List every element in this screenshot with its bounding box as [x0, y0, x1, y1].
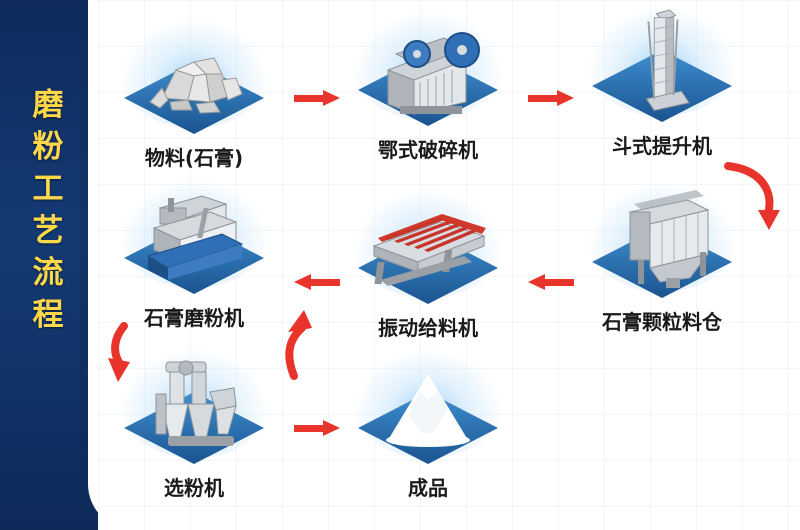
node-tile: [110, 348, 278, 468]
node-finished-product[interactable]: 成品: [344, 348, 512, 468]
arrow-head: [528, 274, 545, 290]
arrow-shaft: [294, 95, 324, 102]
node-powder-separator[interactable]: 选粉机: [110, 348, 278, 468]
node-label: 斗式提升机: [578, 130, 746, 159]
arrow-shaft: [528, 95, 558, 102]
node-tile: [110, 178, 278, 298]
node-gypsum-silo[interactable]: 石膏颗粒料仓: [578, 182, 746, 302]
title-char-4: 艺: [0, 210, 98, 252]
arrow-shaft: [294, 425, 324, 432]
arrow-head: [557, 90, 574, 106]
flow-diagram-page: 磨 粉 工 艺 流 程: [0, 0, 800, 530]
arrow-feeder-to-mill: [294, 276, 340, 288]
node-grinding-mill[interactable]: 石膏磨粉机: [110, 178, 278, 298]
node-tile: [344, 10, 512, 130]
node-label: 选粉机: [110, 472, 278, 501]
arrow-shaft: [544, 279, 574, 286]
node-label: 振动给料机: [344, 312, 512, 341]
node-label: 成品: [344, 472, 512, 501]
node-jaw-crusher[interactable]: 鄂式破碎机: [344, 10, 512, 130]
node-vibrating-feeder[interactable]: 振动给料机: [344, 188, 512, 308]
arrow-crusher-to-elevator: [528, 92, 574, 104]
title-char-5: 流: [0, 252, 98, 294]
node-bucket-elevator[interactable]: 斗式提升机: [578, 6, 746, 126]
node-tile: [344, 348, 512, 468]
arrow-shaft: [310, 279, 340, 286]
node-tile: [578, 182, 746, 302]
arrow-separator-to-product: [294, 422, 340, 434]
node-raw-material[interactable]: 物料(石膏): [110, 18, 278, 138]
bucket-elevator-icon: [578, 6, 746, 126]
arrow-silo-to-feeder: [528, 276, 574, 288]
node-tile: [110, 18, 278, 138]
title-char-2: 粉: [0, 126, 98, 168]
arrow-head: [294, 274, 311, 290]
jaw-crusher-icon: [344, 10, 512, 130]
classifier-icon: [110, 348, 278, 468]
powder-pile-icon: [344, 348, 512, 468]
vibrating-feeder-icon: [344, 188, 512, 308]
title-char-3: 工: [0, 168, 98, 210]
node-label: 鄂式破碎机: [344, 134, 512, 163]
title-char-1: 磨: [0, 84, 98, 126]
storage-silo-icon: [578, 182, 746, 302]
node-label: 石膏颗粒料仓: [578, 306, 746, 335]
rock-pile-icon: [110, 18, 278, 138]
title-char-6: 程: [0, 294, 98, 336]
arrow-head: [323, 90, 340, 106]
node-tile: [578, 6, 746, 126]
arrow-head: [323, 420, 340, 436]
node-tile: [344, 188, 512, 308]
page-title: 磨 粉 工 艺 流 程: [0, 84, 98, 336]
raymond-mill-icon: [110, 178, 278, 298]
arrow-raw-to-crusher: [294, 92, 340, 104]
node-label: 物料(石膏): [110, 142, 278, 171]
